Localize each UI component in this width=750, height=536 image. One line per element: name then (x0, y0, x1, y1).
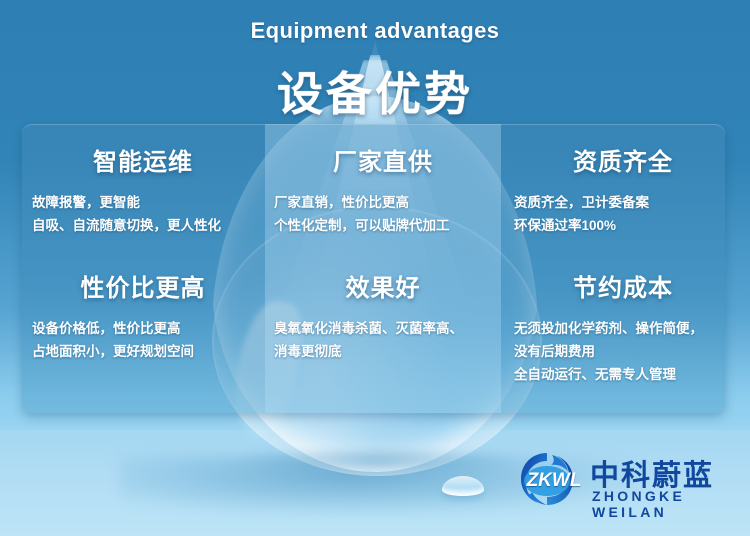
advantage-block-better-value: 性价比更高 设备价格低，性价比更高 占地面积小，更好规划空间 (26, 268, 260, 363)
advantage-block-full-qualification: 资质齐全 资质齐全，卫计委备案 环保通过率100% (508, 142, 738, 237)
english-title: Equipment advantages (0, 18, 750, 44)
water-droplet-contact-shadow (236, 450, 516, 476)
advantage-line: 厂家直销，性价比更高 (274, 191, 498, 214)
logo-monogram: ZKWL (524, 470, 584, 492)
advantage-block-save-cost: 节约成本 无须投加化学药剂、操作简便， 没有后期费用 全自动运行、无需专人管理 (508, 268, 738, 386)
advantage-line: 故障报警，更智能 (32, 191, 260, 214)
advantage-heading: 节约成本 (508, 268, 738, 303)
advantage-line: 环保通过率100% (514, 214, 738, 237)
advantage-body: 故障报警，更智能 自吸、自流随意切换，更人性化 (26, 191, 260, 237)
advantage-body: 厂家直销，性价比更高 个性化定制，可以贴牌代加工 (268, 191, 498, 237)
advantage-line: 消毒更彻底 (274, 340, 498, 363)
advantage-heading: 效果好 (268, 268, 498, 303)
advantage-line: 设备价格低，性价比更高 (32, 317, 260, 340)
advantage-heading: 性价比更高 (26, 268, 260, 303)
advantage-line: 没有后期费用 (514, 340, 738, 363)
advantage-line: 资质齐全，卫计委备案 (514, 191, 738, 214)
advantage-block-good-effect: 效果好 臭氧氧化消毒杀菌、灭菌率高、 消毒更彻底 (268, 268, 498, 363)
advantage-body: 无须投加化学药剂、操作简便， 没有后期费用 全自动运行、无需专人管理 (508, 317, 738, 386)
advantage-heading: 资质齐全 (508, 142, 738, 177)
advantage-heading: 厂家直供 (268, 142, 498, 177)
advantage-line: 臭氧氧化消毒杀菌、灭菌率高、 (274, 317, 498, 340)
advantage-line: 占地面积小，更好规划空间 (32, 340, 260, 363)
small-water-droplet (442, 476, 484, 496)
advantage-block-factory-direct: 厂家直供 厂家直销，性价比更高 个性化定制，可以贴牌代加工 (268, 142, 498, 237)
advantage-line: 自吸、自流随意切换，更人性化 (32, 214, 260, 237)
advantage-line: 全自动运行、无需专人管理 (514, 363, 738, 386)
advantage-body: 资质齐全，卫计委备案 环保通过率100% (508, 191, 738, 237)
advantage-body: 设备价格低，性价比更高 占地面积小，更好规划空间 (26, 317, 260, 363)
advantage-heading: 智能运维 (26, 142, 260, 177)
chinese-title: 设备优势 (0, 58, 750, 124)
promo-banner: Equipment advantages 设备优势 智能运维 故障报警，更智能 … (0, 0, 750, 536)
logo-company-name-en: ZHONGKE WEILAN (592, 488, 738, 520)
advantage-line: 个性化定制，可以贴牌代加工 (274, 214, 498, 237)
advantage-body: 臭氧氧化消毒杀菌、灭菌率高、 消毒更彻底 (268, 317, 498, 363)
advantage-line: 无须投加化学药剂、操作简便， (514, 317, 738, 340)
company-logo: ZKWL 中科蔚蓝 ZHONGKE WEILAN (516, 448, 738, 512)
advantage-block-smart-ops: 智能运维 故障报警，更智能 自吸、自流随意切换，更人性化 (26, 142, 260, 237)
